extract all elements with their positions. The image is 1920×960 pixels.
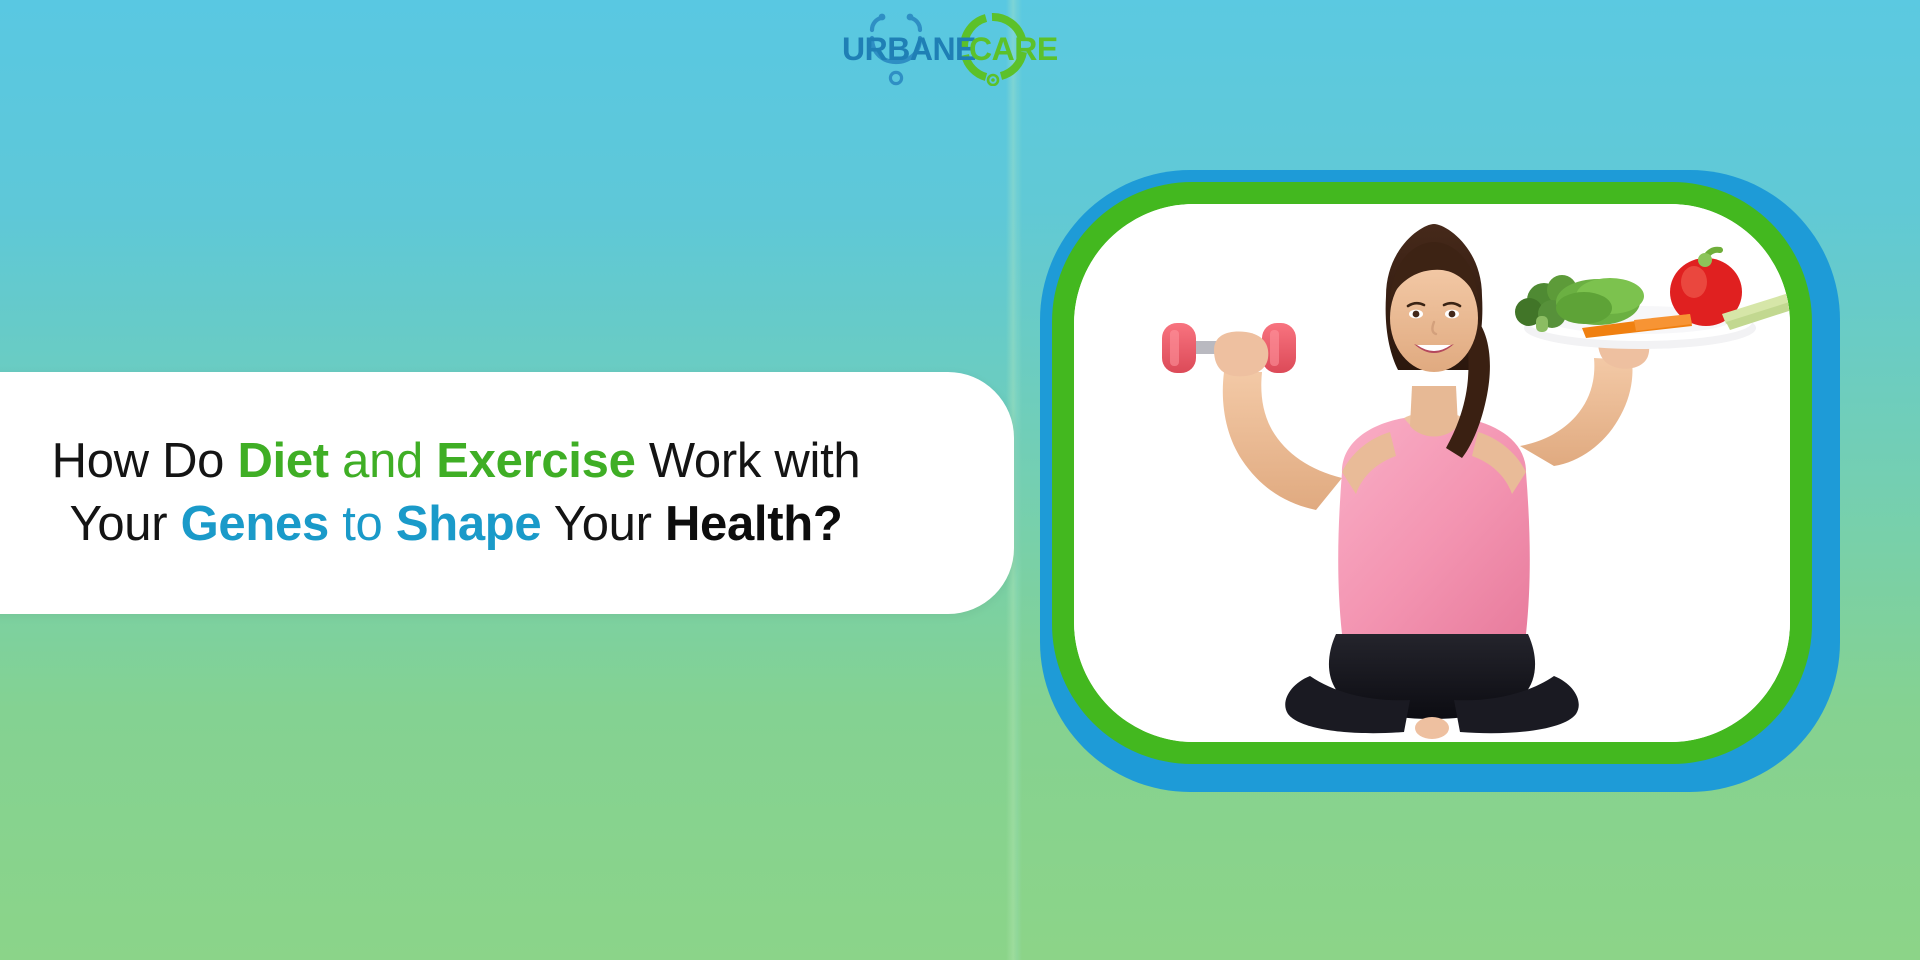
stethoscope-earpiece-icon — [879, 14, 886, 21]
headline-keyword-shape: Shape — [396, 497, 542, 551]
hero-photo-frame: Smiling woman sitting cross-legged holdi… — [1040, 170, 1840, 792]
stethoscope-earpiece-icon — [907, 14, 914, 21]
headline-keyword-exercise: Exercise — [436, 434, 635, 488]
hero-photo-alt: Smiling woman sitting cross-legged holdi… — [1040, 170, 1041, 171]
headline-text-to: to — [329, 497, 396, 551]
foot — [1415, 717, 1449, 739]
headline-keyword-health: Health? — [665, 497, 843, 551]
headline-text-and: and — [329, 434, 436, 488]
headline-text-plain: Work with — [636, 434, 861, 488]
left-hand — [1214, 332, 1268, 377]
neck — [1410, 386, 1458, 437]
headline-line-1: How Do Diet and Exercise Work with — [0, 430, 972, 493]
headline-keyword-genes: Genes — [181, 497, 329, 551]
brand-name-secondary: CARE — [969, 31, 1058, 67]
promo-banner: URBANE CARE URBANE CARE How Do Diet and … — [0, 0, 1920, 960]
headline-card: How Do Diet and Exercise Work with Your … — [0, 372, 1014, 614]
headline-text-plain: Your — [541, 497, 665, 551]
headline-line-2: Your Genes to Shape Your Health? — [0, 493, 972, 556]
headline-text-plain: Your — [69, 497, 180, 551]
headline-keyword-diet: Diet — [237, 434, 328, 488]
brand-logo[interactable]: URBANE CARE URBANE CARE — [836, 8, 1096, 86]
brand-name-primary: URBANE — [842, 31, 976, 67]
page-title: How Do Diet and Exercise Work with Your … — [0, 430, 972, 555]
headline-text-plain: How Do — [52, 434, 238, 488]
ring-dot-center-icon — [991, 78, 995, 82]
hero-photo — [1074, 204, 1790, 742]
stethoscope-chestpiece-icon — [890, 72, 901, 83]
